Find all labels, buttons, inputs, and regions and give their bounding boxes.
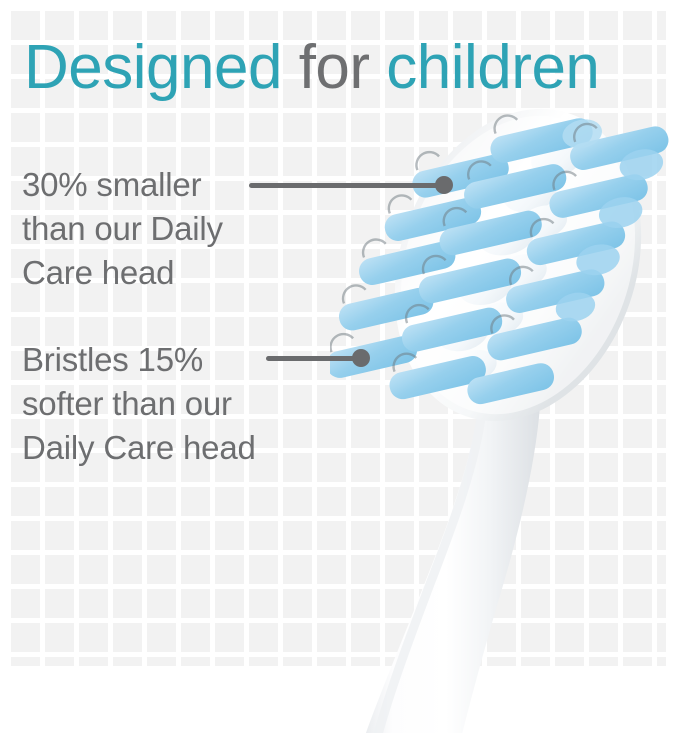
leader-dot-size bbox=[435, 176, 453, 194]
page-title: Designed for children bbox=[24, 33, 674, 103]
leader-line-size bbox=[249, 176, 453, 194]
leader-line-softness bbox=[266, 349, 370, 367]
leader-line-size-stroke bbox=[249, 183, 439, 188]
callout-size-line-3: Care head bbox=[22, 251, 322, 295]
title-part-for: for bbox=[299, 33, 387, 102]
callout-softness-line-2: softer than our bbox=[22, 382, 322, 426]
leader-dot-softness bbox=[352, 349, 370, 367]
title-part-children: children bbox=[386, 33, 599, 102]
infographic-canvas: Designed for children 30% smaller than o… bbox=[0, 0, 679, 733]
callout-softness-line-3: Daily Care head bbox=[22, 426, 322, 470]
callout-size-line-2: than our Daily bbox=[22, 207, 322, 251]
leader-line-softness-stroke bbox=[266, 356, 356, 361]
brush-handle bbox=[360, 390, 540, 733]
title-part-designed: Designed bbox=[24, 33, 299, 102]
